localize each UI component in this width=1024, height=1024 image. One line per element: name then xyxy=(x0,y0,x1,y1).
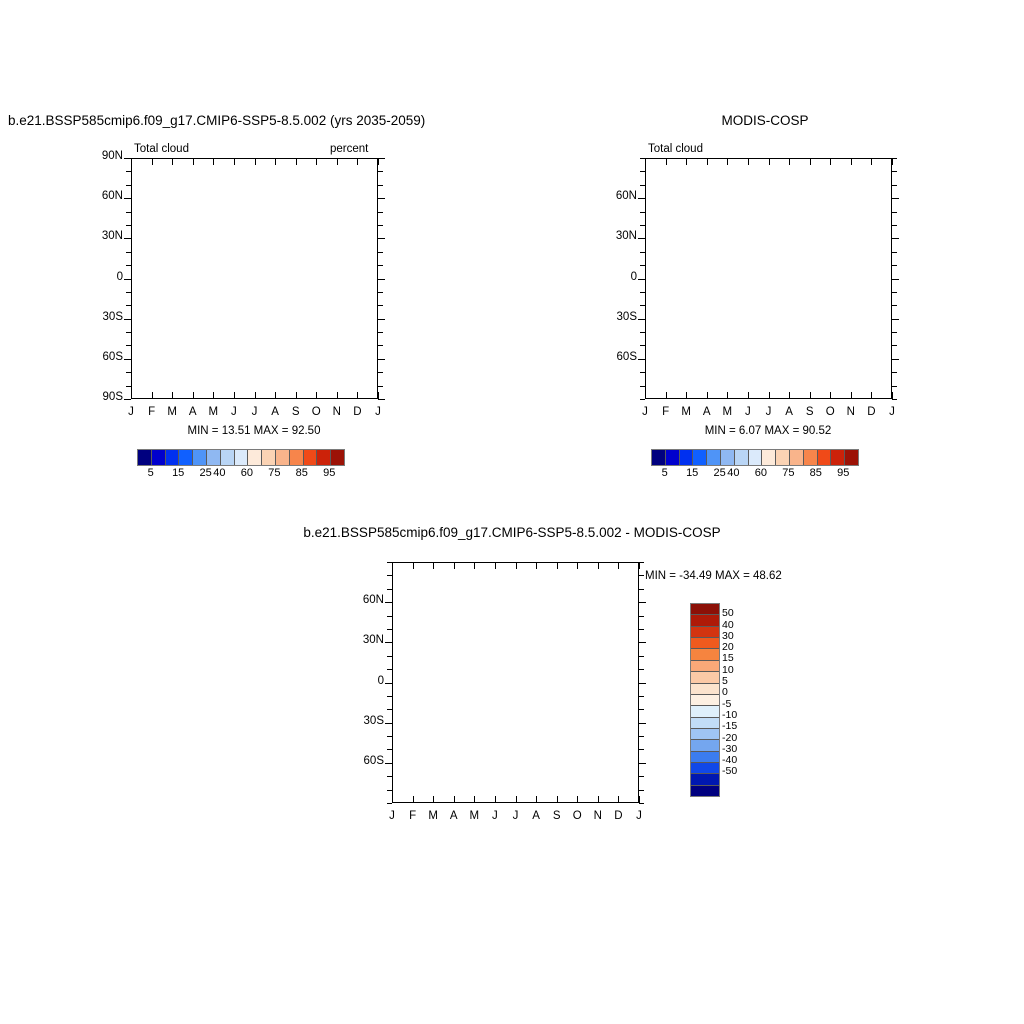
colorbar-swatch[interactable] xyxy=(331,450,344,465)
x-axis-tick xyxy=(645,158,646,165)
y-axis-tick xyxy=(378,171,383,172)
x-axis-label: J xyxy=(635,406,655,418)
y-axis-tick xyxy=(378,332,383,333)
x-axis-tick xyxy=(769,392,770,399)
x-axis-tick xyxy=(296,392,297,399)
colorbar-swatch[interactable] xyxy=(138,450,152,465)
y-axis-tick xyxy=(640,332,645,333)
colorbar-swatch[interactable] xyxy=(707,450,721,465)
y-axis-tick xyxy=(892,386,897,387)
y-axis-label: 30N xyxy=(599,230,637,242)
y-axis-tick xyxy=(124,399,131,400)
y-axis-tick xyxy=(892,359,899,360)
colorbar-tick-label: -20 xyxy=(722,732,737,744)
y-axis-tick xyxy=(378,225,383,226)
colorbar-tick-label: 85 xyxy=(288,467,316,479)
x-axis-label: A xyxy=(526,810,546,822)
x-axis-label: J xyxy=(506,810,526,822)
y-axis-tick xyxy=(640,372,645,373)
panel-title-obs: MODIS-COSP xyxy=(645,113,885,128)
x-axis-label: N xyxy=(327,406,347,418)
stats-model: MIN = 13.51 MAX = 92.50 xyxy=(124,425,384,437)
y-axis-tick xyxy=(126,225,131,226)
colorbar-swatch[interactable] xyxy=(831,450,845,465)
y-axis-label: 60N xyxy=(599,190,637,202)
y-axis-tick xyxy=(892,238,899,239)
y-axis-tick xyxy=(892,399,897,400)
x-axis-tick xyxy=(337,158,338,165)
x-axis-tick xyxy=(378,158,379,165)
colorbar-swatch[interactable] xyxy=(317,450,331,465)
x-axis-label: M xyxy=(162,406,182,418)
x-axis-tick xyxy=(639,562,640,569)
y-axis-tick xyxy=(639,723,646,724)
colorbar-tick-label: 30 xyxy=(722,630,734,642)
y-axis-label: 60N xyxy=(85,190,123,202)
x-axis-tick xyxy=(152,392,153,399)
y-axis-tick xyxy=(892,185,897,186)
colorbar-tick-label: 60 xyxy=(747,467,775,479)
y-axis-tick xyxy=(385,683,392,684)
colorbar-swatch[interactable] xyxy=(691,661,719,672)
colorbar-swatch[interactable] xyxy=(693,450,707,465)
x-axis-tick xyxy=(871,392,872,399)
y-axis-tick xyxy=(640,252,645,253)
y-axis-tick xyxy=(378,292,383,293)
x-axis-tick xyxy=(851,158,852,165)
y-axis-tick xyxy=(378,212,383,213)
x-axis-tick xyxy=(892,158,893,165)
x-axis-label: M xyxy=(423,810,443,822)
y-axis-tick xyxy=(640,345,645,346)
x-axis-label: A xyxy=(265,406,285,418)
colorbar-swatch[interactable] xyxy=(262,450,276,465)
x-axis-tick xyxy=(213,158,214,165)
y-axis-tick xyxy=(126,171,131,172)
colorbar-tick-label: 95 xyxy=(829,467,857,479)
x-axis-tick xyxy=(316,392,317,399)
y-axis-tick xyxy=(639,669,644,670)
x-axis-tick xyxy=(172,392,173,399)
x-axis-tick xyxy=(666,392,667,399)
x-axis-tick xyxy=(255,392,256,399)
colorbar-swatch[interactable] xyxy=(845,450,858,465)
x-axis-tick xyxy=(172,158,173,165)
x-axis-tick xyxy=(193,158,194,165)
y-axis-tick xyxy=(124,198,131,199)
y-axis-tick xyxy=(639,696,644,697)
x-axis-label: J xyxy=(629,810,649,822)
x-axis-tick xyxy=(474,562,475,569)
x-axis-tick xyxy=(830,158,831,165)
x-axis-tick xyxy=(392,796,393,803)
x-axis-tick xyxy=(789,392,790,399)
y-axis-tick xyxy=(892,212,897,213)
y-axis-tick xyxy=(892,265,897,266)
y-axis-tick xyxy=(124,319,131,320)
colorbar-tick-label: 10 xyxy=(722,664,734,676)
colorbar-swatch[interactable] xyxy=(691,718,719,729)
x-axis-tick xyxy=(433,562,434,569)
colorbar-tick-label: -50 xyxy=(722,765,737,777)
x-axis-tick xyxy=(598,562,599,569)
y-axis-label: 30S xyxy=(85,311,123,323)
y-axis-tick xyxy=(378,252,383,253)
x-axis-tick xyxy=(413,562,414,569)
contour-plot-obs[interactable] xyxy=(645,158,892,399)
y-axis-tick xyxy=(639,656,644,657)
colorbar-swatch[interactable] xyxy=(691,638,719,649)
x-axis-tick xyxy=(810,158,811,165)
x-axis-label: J xyxy=(485,810,505,822)
y-axis-tick xyxy=(639,749,644,750)
x-axis-tick xyxy=(433,796,434,803)
colorbar-swatch[interactable] xyxy=(166,450,180,465)
y-axis-tick xyxy=(387,790,392,791)
colorbar-swatch[interactable] xyxy=(691,729,719,740)
colorbar-swatch[interactable] xyxy=(804,450,818,465)
y-axis-tick xyxy=(378,198,385,199)
colorbar-swatch[interactable] xyxy=(790,450,804,465)
x-axis-label: M xyxy=(717,406,737,418)
y-axis-tick xyxy=(638,359,645,360)
y-axis-tick xyxy=(640,185,645,186)
colorbar-tick-label: 95 xyxy=(315,467,343,479)
y-axis-tick xyxy=(378,359,385,360)
colorbar-swatch[interactable] xyxy=(721,450,735,465)
y-axis-tick xyxy=(640,305,645,306)
colorbar-swatch[interactable] xyxy=(666,450,680,465)
y-axis-tick xyxy=(892,225,897,226)
colorbar-swatch[interactable] xyxy=(735,450,749,465)
colorbar-swatch[interactable] xyxy=(304,450,318,465)
x-axis-tick xyxy=(577,796,578,803)
x-axis-tick xyxy=(536,796,537,803)
y-axis-label: 60S xyxy=(85,351,123,363)
y-axis-tick xyxy=(378,372,383,373)
y-axis-tick xyxy=(126,185,131,186)
x-axis-tick xyxy=(557,562,558,569)
x-axis-tick xyxy=(769,158,770,165)
colorbar-swatch[interactable] xyxy=(691,672,719,683)
y-axis-label: 60S xyxy=(346,755,384,767)
x-axis-tick xyxy=(131,158,132,165)
y-axis-tick xyxy=(639,709,644,710)
colorbar-swatch[interactable] xyxy=(691,604,719,615)
x-axis-tick xyxy=(495,562,496,569)
y-axis-label: 30S xyxy=(599,311,637,323)
x-axis-tick xyxy=(686,158,687,165)
y-axis-label: 90S xyxy=(85,391,123,403)
x-axis-tick xyxy=(598,796,599,803)
y-axis-tick xyxy=(126,212,131,213)
y-axis-label: 60N xyxy=(346,594,384,606)
colorbar-tick-label: 5 xyxy=(137,467,165,479)
stats-obs: MIN = 6.07 MAX = 90.52 xyxy=(638,425,898,437)
y-axis-tick xyxy=(387,736,392,737)
colorbar-swatch[interactable] xyxy=(691,615,719,626)
colorbar-swatch[interactable] xyxy=(276,450,290,465)
y-axis-tick xyxy=(640,171,645,172)
x-axis-tick xyxy=(577,562,578,569)
x-axis-tick xyxy=(892,392,893,399)
y-axis-tick xyxy=(387,656,392,657)
y-axis-tick xyxy=(387,709,392,710)
y-axis-tick xyxy=(378,319,385,320)
colorbar-tick-label: 75 xyxy=(260,467,288,479)
x-axis-label: J xyxy=(121,406,141,418)
colorbar-swatch[interactable] xyxy=(691,695,719,706)
colorbar-tick-label: 15 xyxy=(722,652,734,664)
x-axis-label: J xyxy=(245,406,265,418)
y-axis-tick xyxy=(387,803,392,804)
y-axis-tick xyxy=(378,305,383,306)
y-axis-tick xyxy=(385,642,392,643)
x-axis-tick xyxy=(810,392,811,399)
x-axis-tick xyxy=(392,562,393,569)
stats-difference: MIN = -34.49 MAX = 48.62 xyxy=(645,570,782,582)
y-axis-tick xyxy=(378,265,383,266)
colorbar-swatch[interactable] xyxy=(691,740,719,751)
colorbar-tick-label: -10 xyxy=(722,709,737,721)
x-axis-label: A xyxy=(697,406,717,418)
colorbar-swatch[interactable] xyxy=(691,774,719,785)
colorbar-swatch[interactable] xyxy=(691,706,719,717)
y-axis-tick xyxy=(640,399,645,400)
colorbar-tick-label: 50 xyxy=(722,607,734,619)
y-axis-tick xyxy=(639,683,646,684)
y-axis-tick xyxy=(126,386,131,387)
y-axis-tick xyxy=(387,629,392,630)
y-axis-label: 60S xyxy=(599,351,637,363)
x-axis-tick xyxy=(686,392,687,399)
y-axis-tick xyxy=(387,669,392,670)
y-axis-tick xyxy=(378,185,383,186)
colorbar-swatch[interactable] xyxy=(221,450,235,465)
colorbar-tick-label: 15 xyxy=(678,467,706,479)
x-axis-tick xyxy=(193,392,194,399)
y-axis-label: 90N xyxy=(85,150,123,162)
contour-plot-model[interactable] xyxy=(131,158,378,399)
x-axis-tick xyxy=(255,158,256,165)
y-axis-tick xyxy=(387,589,392,590)
x-axis-tick xyxy=(536,562,537,569)
x-axis-label: J xyxy=(738,406,758,418)
x-axis-tick xyxy=(357,392,358,399)
y-axis-tick xyxy=(892,171,897,172)
colorbar-tick-label: 40 xyxy=(205,467,233,479)
y-axis-label: 30N xyxy=(85,230,123,242)
y-axis-tick xyxy=(640,212,645,213)
colorbar-tick-label: 60 xyxy=(233,467,261,479)
colorbar-tick-label: 5 xyxy=(651,467,679,479)
y-axis-tick xyxy=(638,238,645,239)
panel-corner-label-model: Total cloud xyxy=(134,143,189,155)
y-axis-tick xyxy=(126,252,131,253)
colorbar-swatch[interactable] xyxy=(762,450,776,465)
y-axis-tick xyxy=(639,763,646,764)
colorbar-swatch[interactable] xyxy=(652,450,666,465)
y-axis-label: 0 xyxy=(599,271,637,283)
colorbar-swatch[interactable] xyxy=(179,450,193,465)
x-axis-tick xyxy=(707,158,708,165)
y-axis-tick xyxy=(639,629,644,630)
colorbar-swatch[interactable] xyxy=(207,450,221,465)
y-axis-tick xyxy=(124,158,131,159)
colorbar-swatch[interactable] xyxy=(691,786,719,796)
x-axis-tick xyxy=(516,562,517,569)
y-axis-tick xyxy=(385,723,392,724)
x-axis-tick xyxy=(474,796,475,803)
y-axis-tick xyxy=(387,749,392,750)
colorbar-swatch[interactable] xyxy=(152,450,166,465)
x-axis-label: J xyxy=(224,406,244,418)
panel-units-label-model: percent xyxy=(330,143,368,155)
x-axis-label: O xyxy=(820,406,840,418)
colorbar-tick-label: 0 xyxy=(722,686,728,698)
colorbar-tick-label: -40 xyxy=(722,754,737,766)
y-axis-tick xyxy=(640,292,645,293)
x-axis-tick xyxy=(618,562,619,569)
colorbar-total-cloud-model[interactable] xyxy=(137,449,345,466)
x-axis-label: J xyxy=(382,810,402,822)
x-axis-tick xyxy=(454,562,455,569)
y-axis-tick xyxy=(378,399,385,400)
colorbar-tick-label: -15 xyxy=(722,720,737,732)
y-axis-label: 30N xyxy=(346,634,384,646)
y-axis-tick xyxy=(126,332,131,333)
colorbar-tick-label: -30 xyxy=(722,743,737,755)
x-axis-label: F xyxy=(403,810,423,822)
x-axis-label: J xyxy=(759,406,779,418)
colorbar-tick-label: 40 xyxy=(722,619,734,631)
colorbar-tick-label: 15 xyxy=(164,467,192,479)
y-axis-tick xyxy=(640,265,645,266)
x-axis-tick xyxy=(830,392,831,399)
colorbar-swatch[interactable] xyxy=(776,450,790,465)
y-axis-tick xyxy=(387,616,392,617)
y-axis-tick xyxy=(385,763,392,764)
x-axis-tick xyxy=(234,392,235,399)
colorbar-swatch[interactable] xyxy=(749,450,763,465)
y-axis-tick xyxy=(892,305,897,306)
colorbar-swatch[interactable] xyxy=(691,763,719,774)
y-axis-tick xyxy=(640,386,645,387)
x-axis-label: N xyxy=(841,406,861,418)
x-axis-tick xyxy=(851,392,852,399)
colorbar-swatch[interactable] xyxy=(818,450,832,465)
y-axis-tick xyxy=(639,642,646,643)
panel-title-difference: b.e21.BSSP585cmip6.f09_g17.CMIP6-SSP5-8.… xyxy=(256,525,768,540)
y-axis-tick xyxy=(892,198,899,199)
y-axis-tick xyxy=(124,238,131,239)
x-axis-tick xyxy=(357,158,358,165)
y-axis-tick xyxy=(638,198,645,199)
y-axis-tick xyxy=(378,279,385,280)
colorbar-swatch[interactable] xyxy=(691,649,719,660)
x-axis-tick xyxy=(413,796,414,803)
x-axis-tick xyxy=(618,796,619,803)
y-axis-tick xyxy=(638,319,645,320)
y-axis-tick xyxy=(387,575,392,576)
x-axis-tick xyxy=(748,392,749,399)
colorbar-tick-label: 5 xyxy=(722,675,728,687)
y-axis-tick xyxy=(639,616,644,617)
y-axis-tick xyxy=(378,238,385,239)
x-axis-tick xyxy=(234,158,235,165)
y-axis-tick xyxy=(387,776,392,777)
y-axis-tick xyxy=(378,386,383,387)
x-axis-tick xyxy=(296,158,297,165)
y-axis-label: 30S xyxy=(346,715,384,727)
colorbar-tick-label: -5 xyxy=(722,698,731,710)
y-axis-tick xyxy=(638,279,645,280)
x-axis-tick xyxy=(152,158,153,165)
panel-corner-label-obs: Total cloud xyxy=(648,143,703,155)
colorbar-tick-label: 40 xyxy=(719,467,747,479)
y-axis-tick xyxy=(387,696,392,697)
colorbar-total-cloud-obs[interactable] xyxy=(651,449,859,466)
x-axis-tick xyxy=(639,796,640,803)
y-axis-tick xyxy=(892,332,897,333)
panel-title-model: b.e21.BSSP585cmip6.f09_g17.CMIP6-SSP5-8.… xyxy=(8,113,425,128)
x-axis-tick xyxy=(378,392,379,399)
y-axis-tick xyxy=(892,279,899,280)
colorbar-difference[interactable] xyxy=(690,603,720,797)
y-axis-label: 0 xyxy=(346,675,384,687)
y-axis-tick xyxy=(640,225,645,226)
x-axis-label: O xyxy=(567,810,587,822)
x-axis-label: S xyxy=(800,406,820,418)
contour-plot-difference[interactable] xyxy=(392,562,639,803)
x-axis-tick xyxy=(275,392,276,399)
x-axis-tick xyxy=(789,158,790,165)
colorbar-tick-label: 85 xyxy=(802,467,830,479)
x-axis-label: S xyxy=(286,406,306,418)
colorbar-swatch[interactable] xyxy=(248,450,262,465)
colorbar-tick-label: 20 xyxy=(722,641,734,653)
x-axis-label: O xyxy=(306,406,326,418)
y-axis-tick xyxy=(126,372,131,373)
y-axis-tick xyxy=(892,252,897,253)
x-axis-tick xyxy=(666,158,667,165)
y-axis-tick xyxy=(892,292,897,293)
colorbar-swatch[interactable] xyxy=(691,752,719,763)
x-axis-tick xyxy=(727,158,728,165)
y-axis-tick xyxy=(126,345,131,346)
x-axis-tick xyxy=(131,392,132,399)
colorbar-swatch[interactable] xyxy=(691,627,719,638)
x-axis-tick xyxy=(871,158,872,165)
y-axis-tick xyxy=(639,589,644,590)
y-axis-tick xyxy=(378,345,383,346)
x-axis-tick xyxy=(275,158,276,165)
colorbar-swatch[interactable] xyxy=(235,450,249,465)
figure-canvas: b.e21.BSSP585cmip6.f09_g17.CMIP6-SSP5-8.… xyxy=(0,0,1024,1024)
x-axis-tick xyxy=(645,392,646,399)
colorbar-swatch[interactable] xyxy=(680,450,694,465)
y-axis-tick xyxy=(639,776,644,777)
colorbar-swatch[interactable] xyxy=(290,450,304,465)
colorbar-swatch[interactable] xyxy=(193,450,207,465)
x-axis-label: M xyxy=(676,406,696,418)
colorbar-tick-label: 75 xyxy=(774,467,802,479)
y-axis-tick xyxy=(385,602,392,603)
x-axis-label: A xyxy=(779,406,799,418)
colorbar-swatch[interactable] xyxy=(691,684,719,695)
x-axis-tick xyxy=(337,392,338,399)
x-axis-label: J xyxy=(368,406,388,418)
